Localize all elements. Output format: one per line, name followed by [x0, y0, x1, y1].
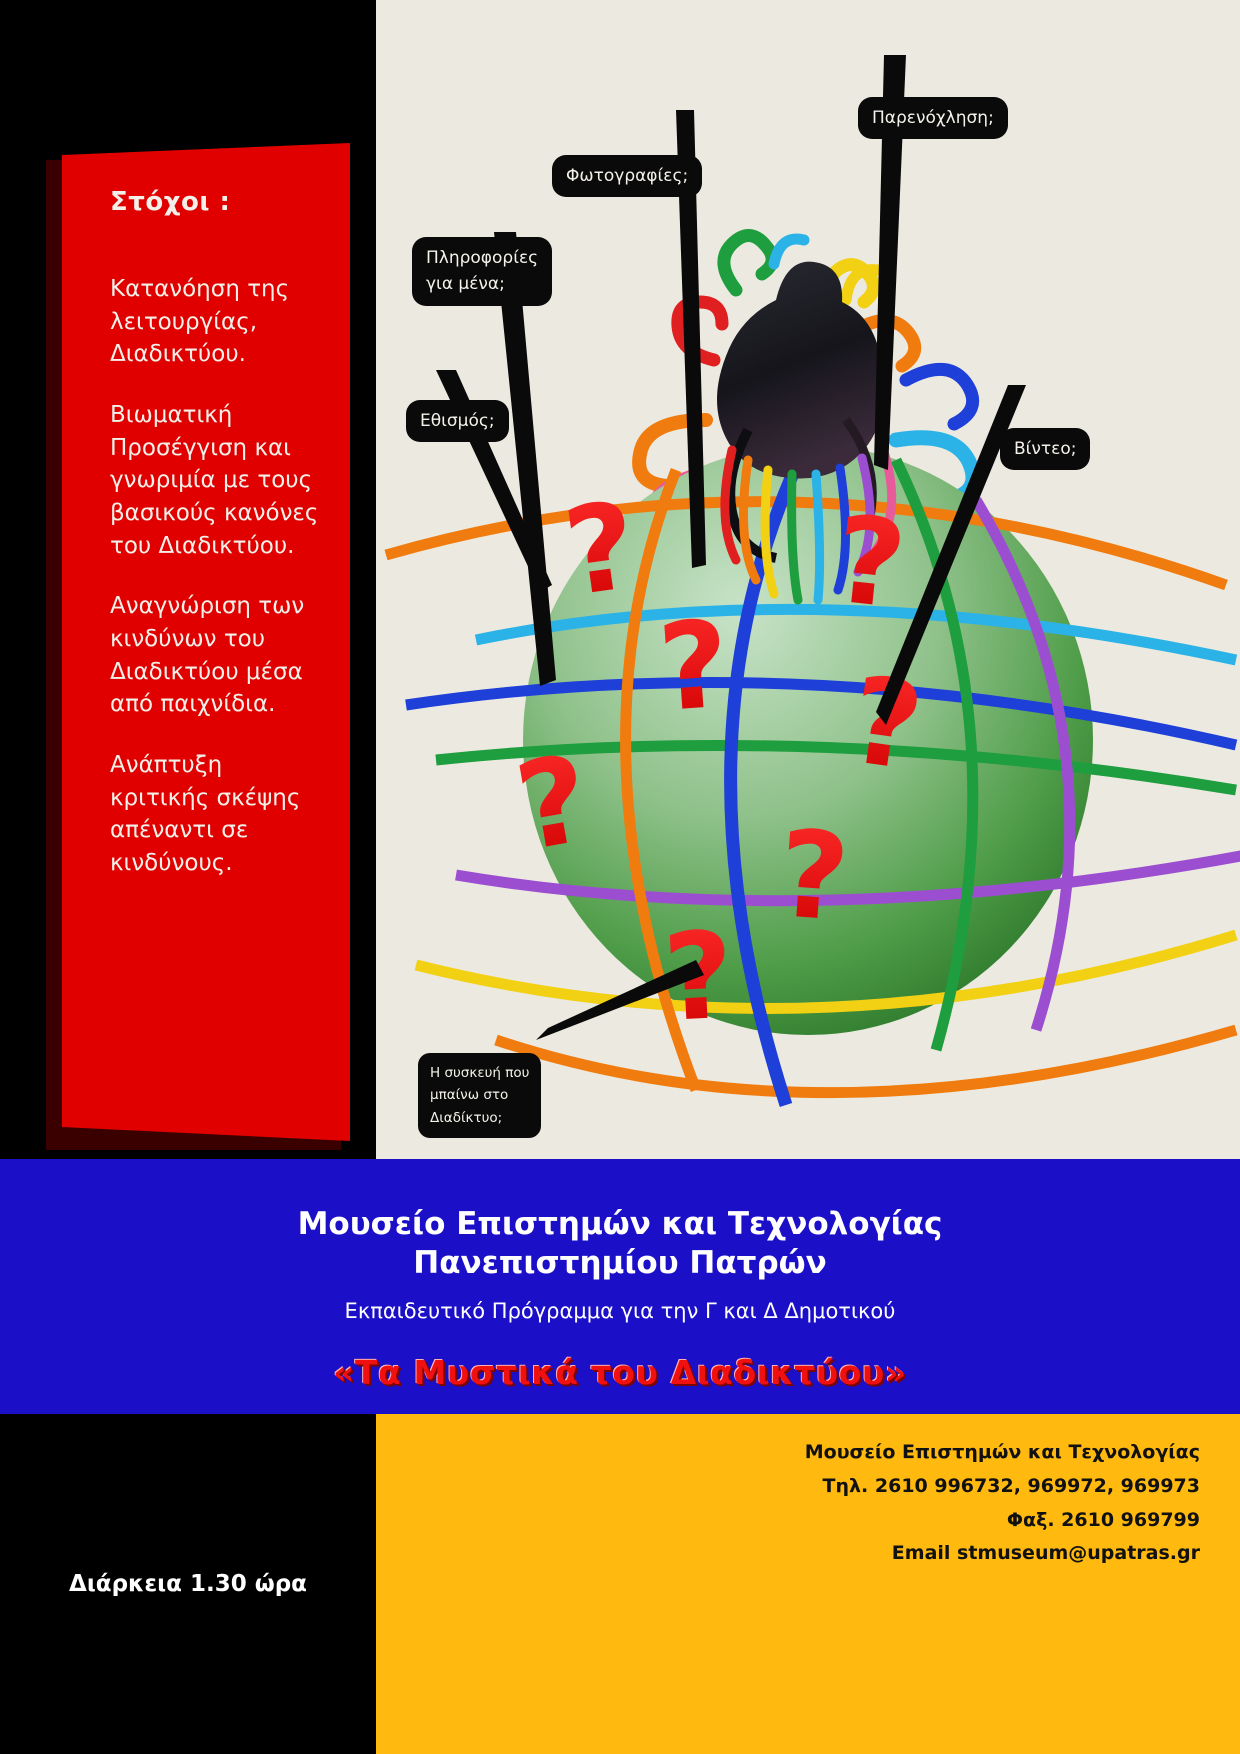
- goals-box: Στόχοι : Κατανόηση της λειτουργίας, Διαδ…: [62, 143, 350, 1141]
- goal-item-3: Αναγνώριση των κινδύνων του Διαδικτύου μ…: [110, 590, 328, 721]
- contact-email[interactable]: Email stmuseum@upatras.gr: [376, 1537, 1200, 1571]
- bubble-video: Βίντεο;: [1000, 428, 1090, 470]
- contact-box: Μουσείο Επιστημών και Τεχνολογίας Τηλ. 2…: [376, 1414, 1240, 1754]
- bubble-harassment: Παρενόχληση;: [858, 97, 1008, 139]
- poster-title: «Τα Μυστικά του Διαδικτύου»: [0, 1353, 1240, 1392]
- organisation-line-1: Μουσείο Επιστημών και Τεχνολογίας: [0, 1159, 1240, 1244]
- svg-text:?: ?: [774, 805, 853, 949]
- svg-text:?: ?: [828, 491, 912, 637]
- contact-name: Μουσείο Επιστημών και Τεχνολογίας: [376, 1436, 1200, 1470]
- footer-band: Μουσείο Επιστημών και Τεχνολογίας Πανεπι…: [0, 1159, 1240, 1414]
- goals-title: Στόχοι :: [110, 187, 328, 217]
- bubble-photos: Φωτογραφίες;: [552, 155, 702, 197]
- bubble-addiction: Εθισμός;: [406, 400, 509, 442]
- duration-label: Διάρκεια 1.30 ώρα: [0, 1414, 376, 1754]
- contact-phone: Τηλ. 2610 996732, 969972, 969973: [376, 1470, 1200, 1504]
- goal-item-1: Κατανόηση της λειτουργίας, Διαδικτύου.: [110, 273, 328, 371]
- svg-text:?: ?: [654, 595, 733, 739]
- bubble-device: Η συσκευή που μπαίνω στο Διαδίκτυο;: [418, 1053, 541, 1138]
- illustration-panel: ? ? ? ? ? ? ?: [376, 0, 1240, 1159]
- organisation-line-2: Πανεπιστημίου Πατρών: [0, 1244, 1240, 1283]
- poster-root: ? ? ? ? ? ? ?: [0, 0, 1240, 1754]
- goal-item-4: Ανάπτυξη κριτικής σκέψης απέναντι σε κιν…: [110, 749, 328, 880]
- goal-item-2: Βιωματική Προσέγγιση και γνωριμία με του…: [110, 399, 328, 562]
- illustration-svg: ? ? ? ? ? ? ?: [376, 0, 1240, 1159]
- bubble-info: Πληροφορίες για μένα;: [412, 237, 552, 306]
- program-subtitle: Εκπαιδευτικό Πρόγραμμα για την Γ και Δ Δ…: [0, 1299, 1240, 1323]
- contact-fax: Φαξ. 2610 969799: [376, 1504, 1200, 1538]
